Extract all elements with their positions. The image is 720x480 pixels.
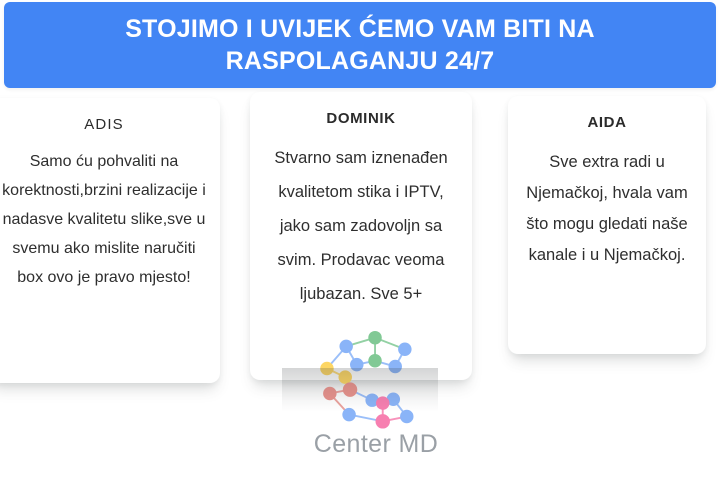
brand-logo: Center MD <box>296 330 456 475</box>
network-graph-logo-icon <box>318 330 434 430</box>
page-title: STOJIMO I UVIJEK ĆEMO VAM BITI NA RASPOL… <box>30 13 690 77</box>
testimonial-card: AIDA Sve extra radi u Njemačkoj, hvala v… <box>508 96 706 354</box>
testimonial-card: ADIS Samo ću pohvaliti na korektnosti,br… <box>0 98 220 383</box>
testimonial-author-name: DOMINIK <box>264 110 458 127</box>
testimonial-text: Sve extra radi u Njemačkoj, hvala vam št… <box>522 147 692 271</box>
brand-wordmark: Center MD <box>296 430 456 459</box>
testimonial-text: Stvarno sam iznenađen kvalitetom stika i… <box>264 141 458 311</box>
header-banner: STOJIMO I UVIJEK ĆEMO VAM BITI NA RASPOL… <box>4 2 716 88</box>
testimonial-author-name: AIDA <box>522 114 692 131</box>
testimonial-text: Samo ću pohvaliti na korektnosti,brzini … <box>2 147 206 292</box>
testimonial-author-name: ADIS <box>2 116 206 133</box>
testimonials-page: STOJIMO I UVIJEK ĆEMO VAM BITI NA RASPOL… <box>0 0 720 480</box>
